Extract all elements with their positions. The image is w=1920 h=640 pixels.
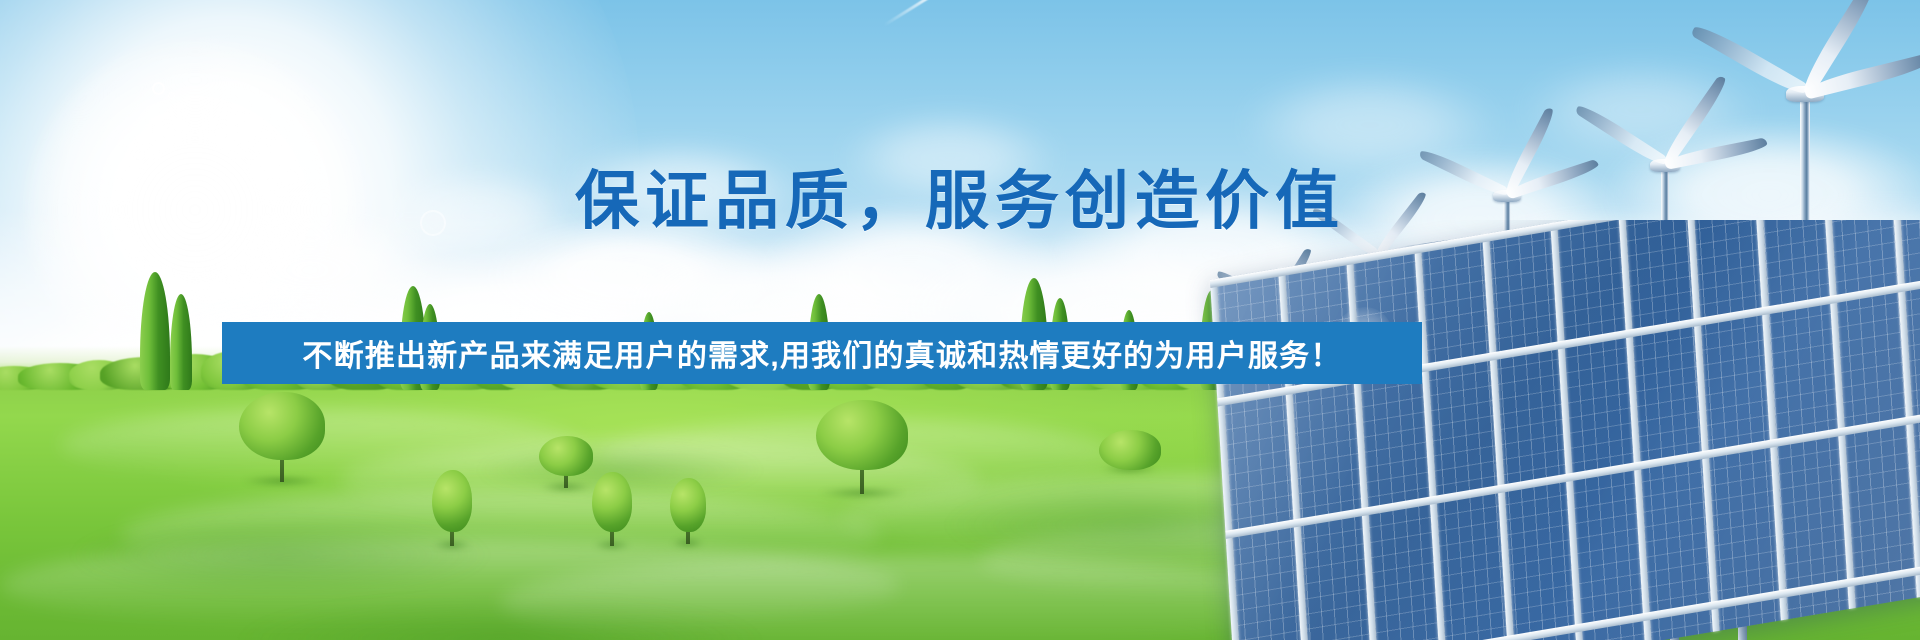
foreground-tree xyxy=(432,470,472,546)
foreground-tree xyxy=(239,392,325,482)
subtitle-bar: 不断推出新产品来满足用户的需求,用我们的真诚和热情更好的为用户服务！ xyxy=(222,322,1422,384)
promo-banner: 保证品质，服务创造价值 不断推出新产品来满足用户的需求,用我们的真诚和热情更好的… xyxy=(0,0,1920,640)
tree-crown xyxy=(592,472,632,532)
tree-crown xyxy=(539,436,593,476)
tree-crown xyxy=(816,400,908,470)
foreground-tree xyxy=(670,478,706,544)
grass-shadow xyxy=(150,580,850,640)
cypress-tree xyxy=(140,272,170,390)
tree-crown xyxy=(432,470,472,532)
solar-panel-array xyxy=(1180,220,1920,640)
tree-crown xyxy=(1099,430,1161,470)
turbine-blade xyxy=(1574,101,1668,169)
tree-crown xyxy=(239,392,325,460)
solar-modules xyxy=(1210,220,1920,640)
cypress-tree xyxy=(170,294,192,390)
foreground-tree xyxy=(539,436,593,488)
foreground-tree xyxy=(1099,430,1161,470)
subtitle-text: 不断推出新产品来满足用户的需求,用我们的真诚和热情更好的为用户服务！ xyxy=(302,331,1341,375)
foreground-tree xyxy=(816,400,908,494)
tree-crown xyxy=(670,478,706,532)
page-title: 保证品质，服务创造价值 xyxy=(0,168,1920,235)
